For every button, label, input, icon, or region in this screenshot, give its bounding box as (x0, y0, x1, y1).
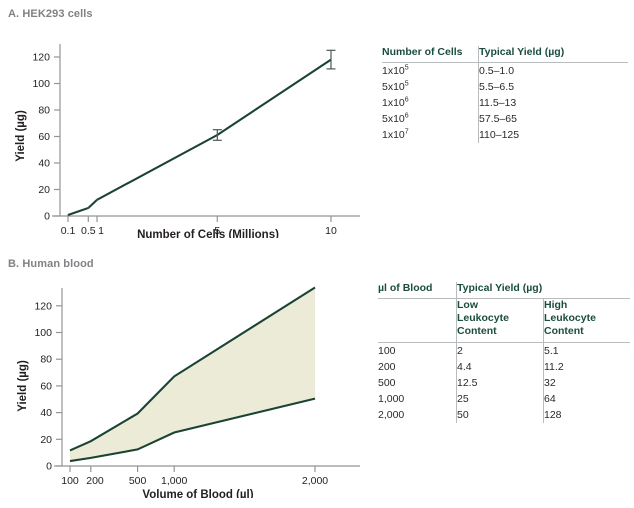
table-row: 100 2 5.1 (378, 343, 630, 360)
panel-b-chart: 0 20 40 60 80 100 120 100 200 (8, 276, 368, 503)
cell-count-base: 5x10 (382, 81, 405, 93)
svg-text:120: 120 (32, 52, 50, 64)
cell-low-yield: 2 (457, 343, 544, 360)
svg-text:60: 60 (38, 131, 50, 143)
cell-count: 1x107 (382, 127, 479, 143)
chart-a-error-bars (68, 50, 336, 215)
cell-count-base: 1x10 (382, 97, 405, 109)
cell-count: 1x106 (382, 95, 479, 111)
svg-text:1: 1 (98, 225, 104, 237)
cell-volume: 2,000 (378, 407, 457, 423)
svg-text:0.5: 0.5 (81, 225, 96, 237)
col-header-ul-of-blood: µl of Blood (378, 282, 457, 299)
table-row: 1x105 0.5–1.0 (382, 63, 628, 80)
chart-a-svg: 0 20 40 60 80 100 120 0.1 0.5 (8, 26, 368, 238)
panel-b-table: µl of Blood Typical Yield (µg) Low Leuko… (378, 282, 630, 423)
table-row: 200 4.4 11.2 (378, 359, 630, 375)
svg-text:100: 100 (61, 475, 79, 487)
cell-high-yield: 11.2 (544, 359, 631, 375)
svg-text:80: 80 (38, 105, 50, 117)
cell-yield: 5.5–6.5 (479, 79, 629, 95)
subcol-header-blank (378, 299, 457, 343)
svg-text:100: 100 (32, 78, 50, 90)
cell-volume: 500 (378, 375, 457, 391)
svg-text:10: 10 (325, 225, 337, 237)
cell-yield: 11.5–13 (479, 95, 629, 111)
cell-count-base: 1x10 (382, 65, 405, 77)
svg-text:120: 120 (34, 300, 52, 312)
cell-count: 1x105 (382, 63, 479, 80)
svg-text:80: 80 (40, 354, 52, 366)
chart-a-xlabel: Number of Cells (Millions) (137, 229, 279, 238)
cell-count-base: 1x10 (382, 129, 405, 141)
cell-high-yield: 32 (544, 375, 631, 391)
panel-a-table: Number of Cells Typical Yield (µg) 1x105… (382, 46, 628, 143)
chart-b-svg: 0 20 40 60 80 100 120 100 200 (8, 276, 368, 498)
panel-a-chart: 0 20 40 60 80 100 120 0.1 0.5 (8, 26, 368, 243)
svg-text:40: 40 (40, 407, 52, 419)
table-row: 5x105 5.5–6.5 (382, 79, 628, 95)
svg-text:1,000: 1,000 (161, 475, 187, 487)
cell-low-yield: 12.5 (457, 375, 544, 391)
table-row: 500 12.5 32 (378, 375, 630, 391)
table-b-body: 100 2 5.1 200 4.4 11.2 500 12.5 32 1,000… (378, 343, 630, 424)
table-row: 5x106 57.5–65 (382, 111, 628, 127)
cell-count-exponent: 5 (405, 65, 409, 72)
cell-volume: 100 (378, 343, 457, 360)
cell-count-base: 5x10 (382, 113, 405, 125)
col-header-typical-yield: Typical Yield (µg) (457, 282, 631, 299)
cell-low-yield: 4.4 (457, 359, 544, 375)
cell-yield: 110–125 (479, 127, 629, 143)
table-row: 1x106 11.5–13 (382, 95, 628, 111)
table-header-row: Number of Cells Typical Yield (µg) (382, 46, 628, 63)
cell-count-exponent: 7 (405, 129, 409, 136)
svg-text:500: 500 (129, 475, 147, 487)
svg-text:20: 20 (38, 184, 50, 196)
chart-b-fill-band (70, 288, 315, 462)
cell-count-exponent: 6 (405, 113, 409, 120)
chart-b-xlabel: Volume of Blood (µl) (142, 489, 253, 498)
cell-count-exponent: 5 (405, 81, 409, 88)
chart-b-ylabel: Yield (µg) (17, 360, 29, 412)
cell-volume: 200 (378, 359, 457, 375)
cell-yield: 57.5–65 (479, 111, 629, 127)
cell-low-yield: 25 (457, 391, 544, 407)
cell-volume: 1,000 (378, 391, 457, 407)
table-row: 1,000 25 64 (378, 391, 630, 407)
table-header-row: µl of Blood Typical Yield (µg) (378, 282, 630, 299)
panel-b-human-blood: B. Human blood 0 20 40 60 80 100 (8, 258, 368, 500)
col-header-number-of-cells: Number of Cells (382, 46, 479, 63)
cell-high-yield: 128 (544, 407, 631, 423)
svg-text:0: 0 (46, 461, 52, 473)
table-row: 2,000 50 128 (378, 407, 630, 423)
svg-text:0.1: 0.1 (61, 225, 76, 237)
chart-a-ylabel: Yield (µg) (15, 110, 27, 162)
cell-high-yield: 5.1 (544, 343, 631, 360)
cell-high-yield: 64 (544, 391, 631, 407)
chart-a-series-line (68, 60, 331, 215)
chart-b-x-ticks: 100 200 500 1,000 2,000 (61, 466, 328, 487)
chart-a-y-ticks: 0 20 40 60 80 100 120 (32, 52, 60, 223)
col-header-typical-yield: Typical Yield (µg) (479, 46, 629, 63)
svg-text:40: 40 (38, 158, 50, 170)
svg-text:20: 20 (40, 434, 52, 446)
table-cells-yield: Number of Cells Typical Yield (µg) 1x105… (382, 46, 628, 143)
panel-b-title: B. Human blood (8, 258, 368, 270)
cell-count-exponent: 6 (405, 97, 409, 104)
subcol-header-low-leukocyte: Low Leukocyte Content (457, 299, 544, 343)
svg-text:0: 0 (44, 211, 50, 223)
svg-text:200: 200 (86, 475, 104, 487)
chart-b-y-ticks: 0 20 40 60 80 100 120 (34, 300, 62, 472)
svg-text:100: 100 (34, 327, 52, 339)
cell-count: 5x105 (382, 79, 479, 95)
table-blood-yield: µl of Blood Typical Yield (µg) Low Leuko… (378, 282, 630, 423)
svg-text:60: 60 (40, 380, 52, 392)
svg-text:2,000: 2,000 (302, 475, 328, 487)
panel-a-hek293: A. HEK293 cells 0 20 40 60 80 100 (8, 8, 368, 240)
table-row: 1x107 110–125 (382, 127, 628, 143)
subcol-header-high-leukocyte: High Leukocyte Content (544, 299, 631, 343)
cell-low-yield: 50 (457, 407, 544, 423)
table-a-body: 1x105 0.5–1.0 5x105 5.5–6.5 1x106 11.5–1… (382, 63, 628, 144)
cell-count: 5x106 (382, 111, 479, 127)
table-subheader-row: Low Leukocyte Content High Leukocyte Con… (378, 299, 630, 343)
panel-a-title: A. HEK293 cells (8, 8, 368, 20)
cell-yield: 0.5–1.0 (479, 63, 629, 80)
